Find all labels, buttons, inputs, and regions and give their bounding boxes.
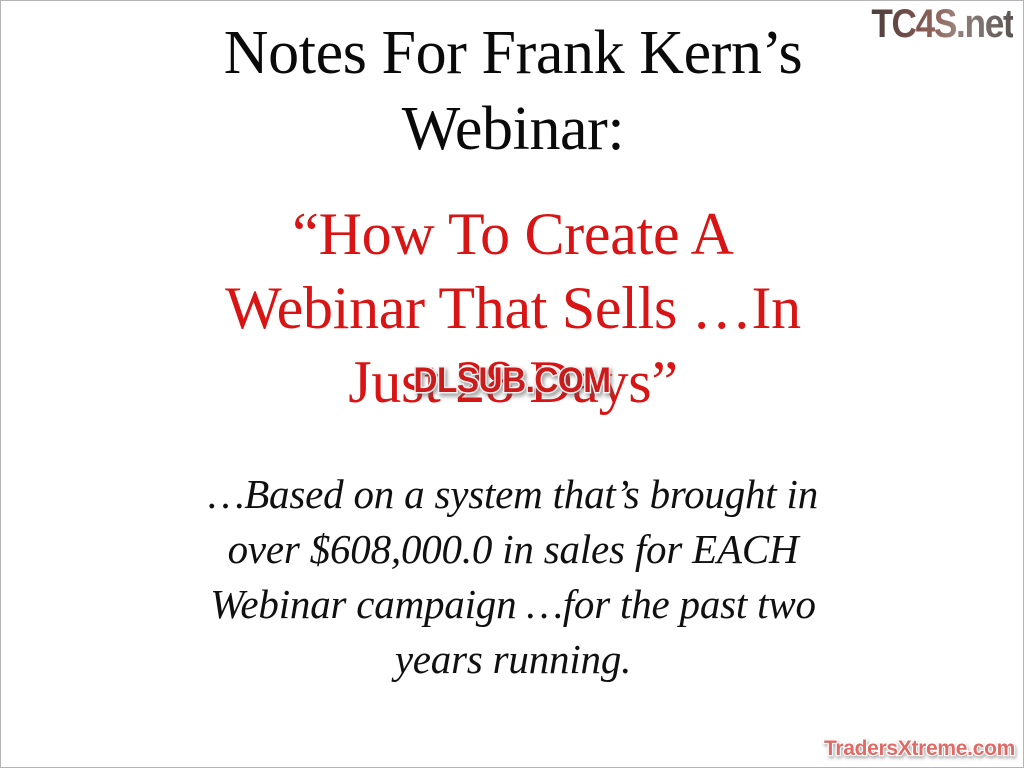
body-paragraph: …Based on a system that’s brought in ove…	[1, 467, 1024, 687]
title-line-2: Webinar:	[1, 91, 1024, 167]
body-line-1: …Based on a system that’s brought in	[1, 467, 1024, 522]
body-line-4: years running.	[1, 632, 1024, 687]
slide-canvas: TC4S.net Notes For Frank Kern’s Webinar:…	[0, 0, 1024, 768]
body-line-3: Webinar campaign …for the past two	[1, 577, 1024, 632]
body-line-2: over $608,000.0 in sales for EACH	[1, 522, 1024, 577]
watermark-tradersxtreme: TradersXtreme.com	[824, 737, 1015, 761]
title-line-1: Notes For Frank Kern’s	[1, 15, 1024, 91]
page-title: Notes For Frank Kern’s Webinar:	[1, 15, 1024, 167]
watermark-dlsub: DLSUB.COM	[413, 363, 610, 399]
subtitle-line-2: Webinar That Sells …In	[1, 271, 1024, 345]
subtitle-line-1: “How To Create A	[1, 197, 1024, 271]
